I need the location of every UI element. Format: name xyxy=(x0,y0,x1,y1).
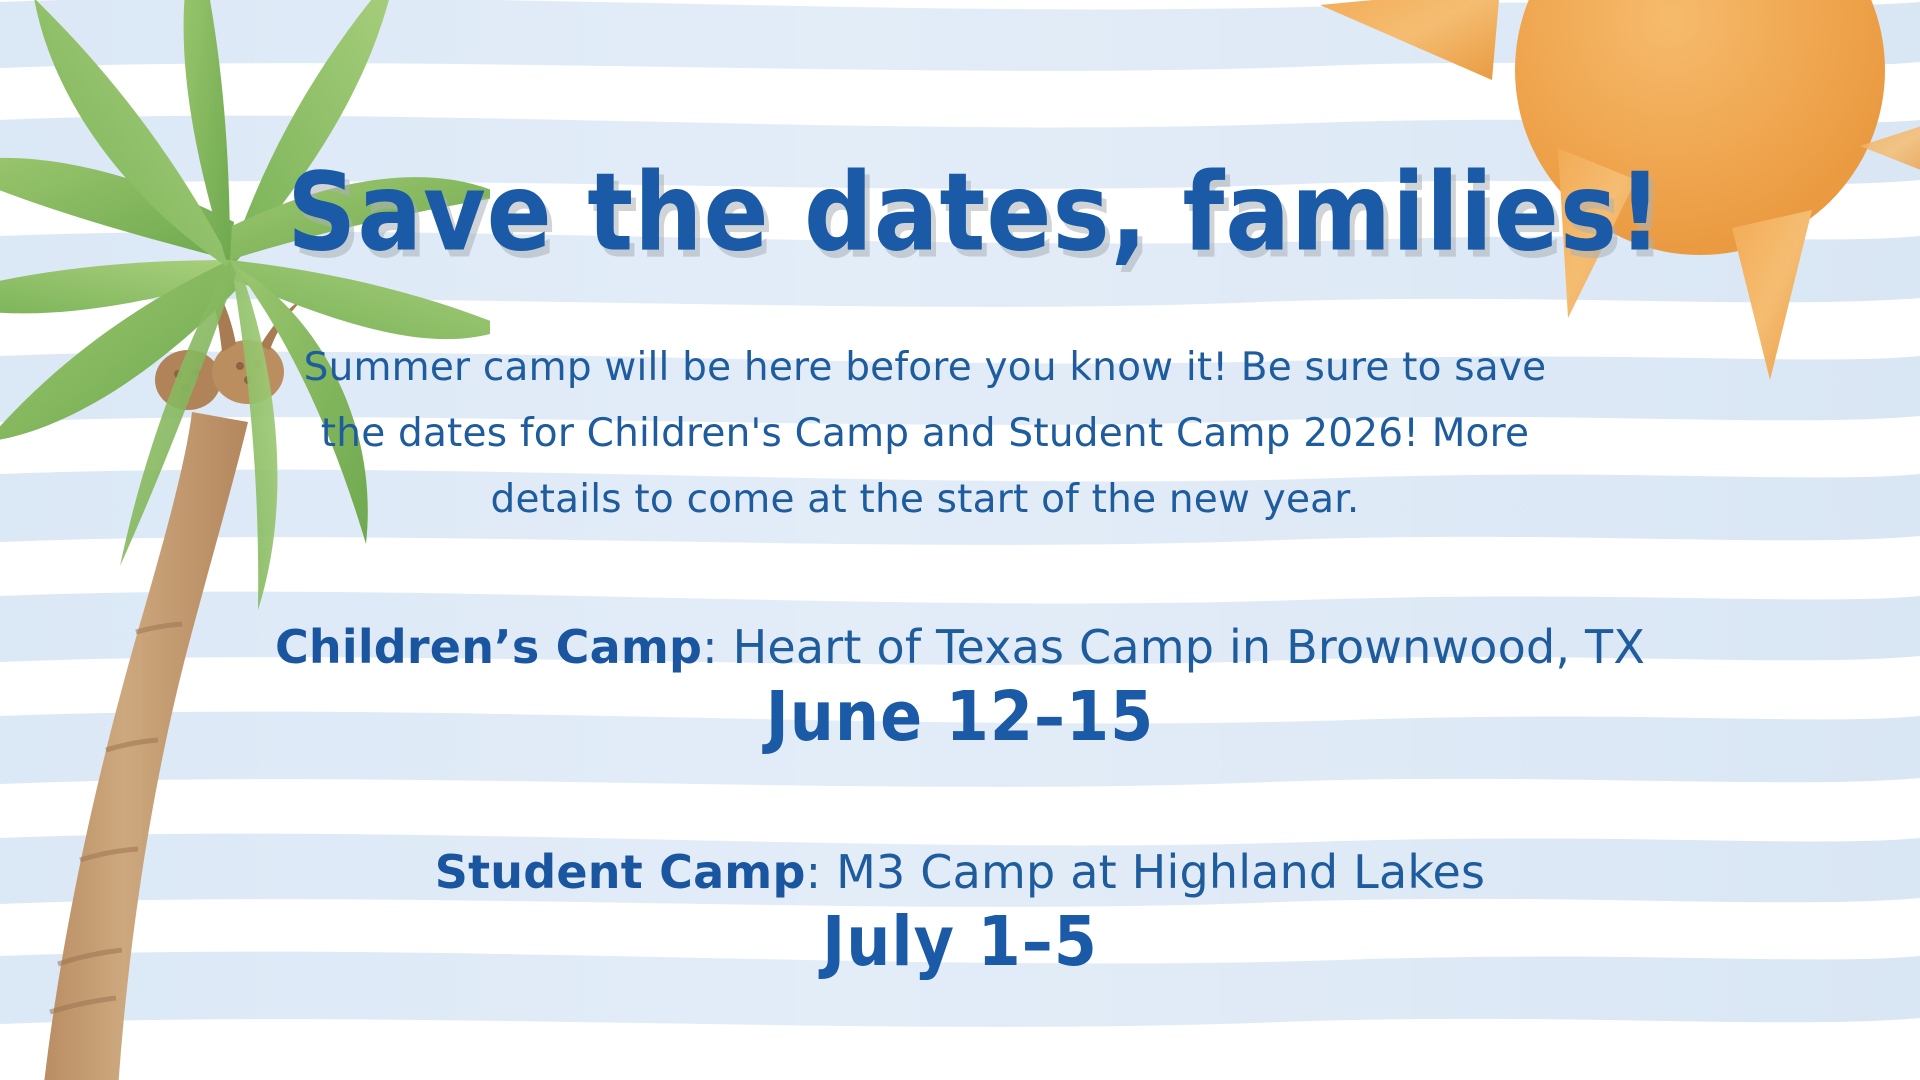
poster-content: Save the dates, families! Summer camp wi… xyxy=(0,0,1920,1080)
childrens-camp-separator: : xyxy=(702,620,733,674)
student-camp-label: Student Camp xyxy=(435,845,806,899)
childrens-camp-block: Children’s Camp: Heart of Texas Camp in … xyxy=(0,620,1920,753)
student-camp-block: Student Camp: M3 Camp at Highland Lakes … xyxy=(0,845,1920,978)
childrens-camp-label: Children’s Camp xyxy=(275,620,702,674)
student-camp-dates: July 1–5 xyxy=(0,901,1920,981)
intro-line-1: Summer camp will be here before you know… xyxy=(255,335,1595,401)
intro-paragraph: Summer camp will be here before you know… xyxy=(255,335,1595,533)
student-camp-detail: M3 Camp at Highland Lakes xyxy=(836,845,1485,899)
childrens-camp-detail: Heart of Texas Camp in Brownwood, TX xyxy=(733,620,1645,674)
childrens-camp-line: Children’s Camp: Heart of Texas Camp in … xyxy=(0,620,1920,674)
save-the-dates-poster: Save the dates, families! Summer camp wi… xyxy=(0,0,1920,1080)
page-title: Save the dates, families! xyxy=(0,150,1920,275)
student-camp-line: Student Camp: M3 Camp at Highland Lakes xyxy=(0,845,1920,899)
intro-line-3: details to come at the start of the new … xyxy=(255,467,1595,533)
intro-line-2: the dates for Children's Camp and Studen… xyxy=(255,401,1595,467)
student-camp-separator: : xyxy=(806,845,837,899)
childrens-camp-dates: June 12–15 xyxy=(0,676,1920,756)
